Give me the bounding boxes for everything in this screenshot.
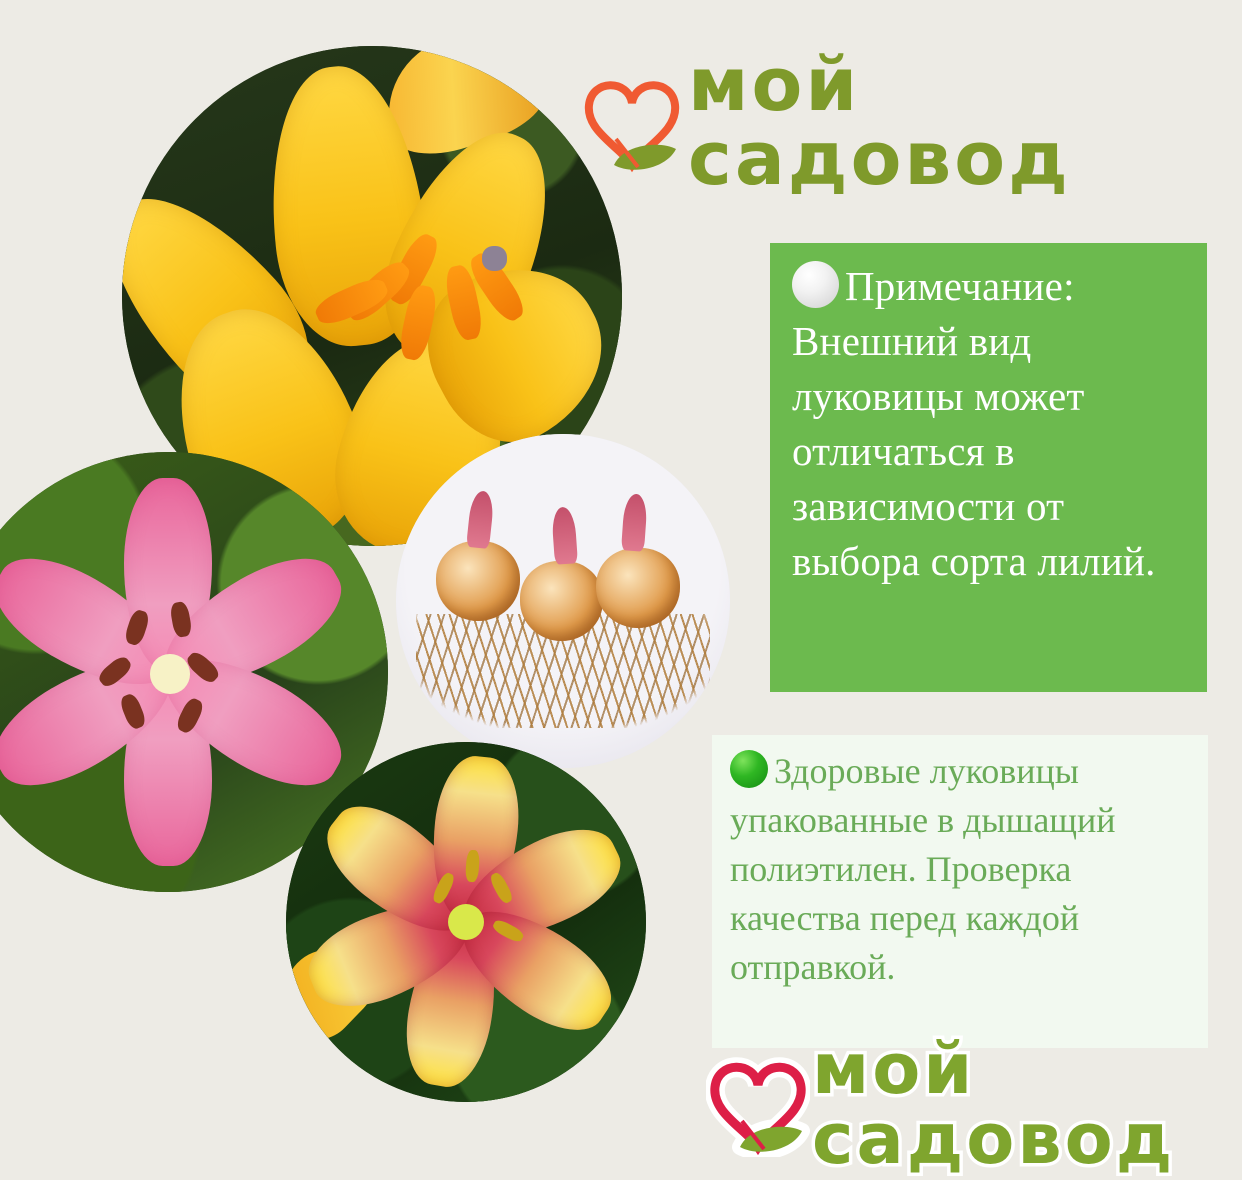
healthy-panel-text-block: Здоровые луковицы упакованные в дышащий … <box>730 747 1190 992</box>
pistil <box>482 246 507 271</box>
note-panel: Примечание: Внешний вид луковицы может о… <box>770 243 1207 692</box>
bulb <box>596 548 680 628</box>
note-panel-text-block: Примечание: Внешний вид луковицы может о… <box>792 259 1185 589</box>
photo-red-yellow-lily <box>286 742 646 1102</box>
flower-center <box>150 654 190 694</box>
heart-leaf-mark <box>706 1051 810 1157</box>
bulb <box>436 541 520 621</box>
green-circle-bullet-icon <box>730 750 768 788</box>
brand-name-bottom: мой садовод <box>812 1034 1242 1174</box>
note-panel-text: Примечание: Внешний вид луковицы может о… <box>792 263 1156 584</box>
poster-canvas: мой садовод Примечание: Внешний вид луко… <box>0 0 1242 1164</box>
brand-name-top: мой садовод <box>688 48 1242 196</box>
grey-circle-bullet-icon <box>792 261 839 308</box>
heart-leaf-mark <box>580 69 684 175</box>
photo-lily-bulbs <box>396 434 730 768</box>
flower-center <box>448 904 484 940</box>
brand-logo-bottom: мой садовод <box>706 1046 1242 1162</box>
healthy-bulbs-panel: Здоровые луковицы упакованные в дышащий … <box>712 735 1208 1048</box>
brand-logo-top: мой садовод <box>580 62 1242 182</box>
bulb <box>520 561 604 641</box>
healthy-panel-text: Здоровые луковицы упакованные в дышащий … <box>730 751 1116 987</box>
